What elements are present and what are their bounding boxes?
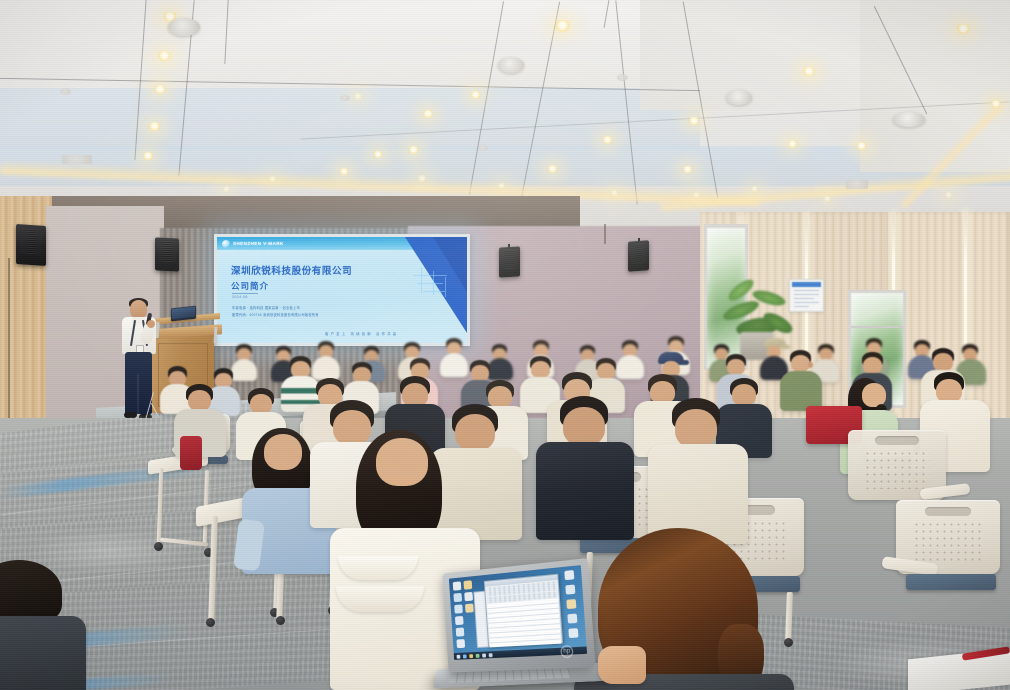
ceiling-downlight — [823, 196, 832, 202]
slide-meta-line-2: 股票代码：300745 深圳欣锐科技股份有限公司版权所有 — [232, 312, 319, 317]
ceiling-downlight — [610, 190, 619, 196]
taskbar-icon[interactable] — [482, 653, 486, 657]
ceiling-downlight — [353, 93, 363, 100]
ceiling-speaker-grille-icon — [726, 90, 752, 105]
spreadsheet-grid[interactable] — [487, 598, 561, 647]
presenter-trousers — [125, 352, 152, 414]
ceiling-downlight — [944, 192, 953, 198]
slide-subtitle: 公司简介 — [231, 280, 269, 292]
desktop-icon[interactable] — [567, 614, 577, 624]
ceiling-downlight — [750, 186, 759, 192]
taskbar-icon[interactable] — [463, 654, 467, 658]
wall-cable — [604, 224, 606, 244]
ceiling-downlight — [422, 110, 434, 118]
ceiling-speaker-grille-icon — [168, 18, 200, 36]
poster-header-band — [792, 282, 821, 287]
desktop-icon[interactable] — [465, 603, 474, 612]
ceiling-downlight — [682, 166, 693, 173]
desktop-icon[interactable] — [455, 616, 464, 625]
ceiling-downlight — [222, 186, 231, 192]
ceiling-downlight — [802, 67, 816, 76]
taskbar-icon[interactable] — [476, 653, 480, 657]
foreground-laptop[interactable]: hp — [440, 566, 618, 690]
smoke-detector-icon — [478, 145, 488, 151]
smoke-detector-icon — [617, 74, 628, 81]
chair-handle-cutout — [925, 507, 971, 517]
blouse-ruffle — [338, 556, 418, 580]
desktop-icon[interactable] — [566, 599, 576, 609]
ceiling-downlight — [157, 51, 172, 61]
desktop-icon[interactable] — [453, 581, 462, 590]
ceiling-downlight — [692, 192, 701, 198]
podium-laptop[interactable] — [171, 306, 196, 322]
ceiling-downlight — [688, 117, 700, 125]
ceiling-speaker-grille-icon — [498, 57, 524, 73]
desktop-icon[interactable] — [454, 604, 463, 613]
potted-palm-plant — [722, 282, 796, 364]
ceiling-downlight — [990, 100, 1002, 108]
smoke-detector-icon — [60, 88, 71, 95]
slide-footer-slogan: 客户至上 持续创新 合作共赢 — [325, 331, 398, 336]
ceiling-downlight — [554, 20, 571, 32]
ceiling-downlight — [956, 24, 971, 34]
wall-speaker-left-2 — [155, 237, 179, 271]
ceiling-downlight — [602, 136, 613, 144]
desktop-icon[interactable] — [456, 627, 465, 636]
ceiling-downlight — [408, 146, 419, 154]
chair-caster — [206, 618, 215, 627]
ceiling-downlight — [417, 175, 427, 182]
wall-speaker-left-1 — [16, 224, 46, 266]
ceiling-downlight — [153, 85, 167, 94]
hp-logo-icon: hp — [560, 645, 573, 658]
presenter — [118, 300, 162, 425]
desktop-icon[interactable] — [568, 628, 578, 638]
presentation-slide[interactable]: SHENZHEN V-MARK ›( 深圳欣锐科技股份有限公司 公司简介 202… — [217, 237, 467, 343]
wall-speaker-right-1 — [499, 246, 520, 277]
chair-perforation — [864, 450, 931, 489]
hand-on-keyboard — [598, 646, 646, 684]
ceiling-downlight — [787, 140, 798, 148]
projection-screen[interactable]: SHENZHEN V-MARK ›( 深圳欣锐科技股份有限公司 公司简介 202… — [214, 234, 470, 346]
ceiling-downlight — [547, 165, 558, 173]
taskbar-icon[interactable] — [469, 654, 473, 658]
start-button-icon[interactable] — [457, 654, 461, 658]
ceiling-downlight — [148, 122, 161, 131]
training-chair[interactable] — [896, 500, 1010, 660]
ceiling-downlight — [142, 152, 154, 160]
desktop-icon[interactable] — [463, 580, 472, 589]
chair-caster — [276, 616, 285, 625]
cap-brim — [779, 345, 790, 349]
blouse-ruffle — [336, 586, 424, 612]
ceiling-downlight — [268, 176, 277, 182]
conference-room-photo: SHENZHEN V-MARK ›( 深圳欣锐科技股份有限公司 公司简介 202… — [0, 0, 1010, 690]
company-logo-icon — [222, 240, 230, 248]
ceiling-vent-icon — [846, 180, 868, 189]
chair-caster — [154, 542, 163, 551]
ceiling-downlight — [497, 183, 506, 189]
slide-title: 深圳欣锐科技股份有限公司 — [231, 263, 352, 277]
ceiling-vent-icon — [62, 155, 92, 164]
ceiling-speaker-grille-icon — [893, 112, 925, 127]
chair-handle-cutout — [875, 436, 918, 445]
ceiling-downlight — [470, 91, 481, 99]
desktop-icon[interactable] — [453, 593, 462, 602]
chair-caster — [784, 638, 793, 647]
red-bag[interactable] — [180, 436, 202, 470]
ceiling-downlight — [856, 142, 867, 150]
ceiling-downlight — [373, 151, 383, 158]
slide-meta-line-1: 车载电源 · 结构科技 国家高新 · 创业板上市 — [232, 305, 300, 310]
smoke-detector-icon — [340, 95, 350, 101]
desktop-icon[interactable] — [464, 592, 473, 601]
slide-logo-text: SHENZHEN V-MARK — [233, 241, 284, 246]
taskbar-icon[interactable] — [489, 653, 493, 657]
desktop-icon[interactable] — [456, 639, 465, 648]
presenter-hand — [147, 320, 155, 328]
slide-date: 2024.08 — [232, 295, 248, 299]
ceiling-downlight — [339, 168, 349, 175]
wall-speaker-right-2 — [628, 240, 649, 271]
desktop-icon[interactable] — [565, 585, 575, 595]
window-mullion — [851, 326, 903, 328]
desktop-icon[interactable] — [564, 570, 574, 580]
laptop-lid[interactable]: hp — [442, 558, 595, 672]
chair-perforation — [913, 521, 984, 562]
spreadsheet-window[interactable] — [484, 574, 563, 648]
